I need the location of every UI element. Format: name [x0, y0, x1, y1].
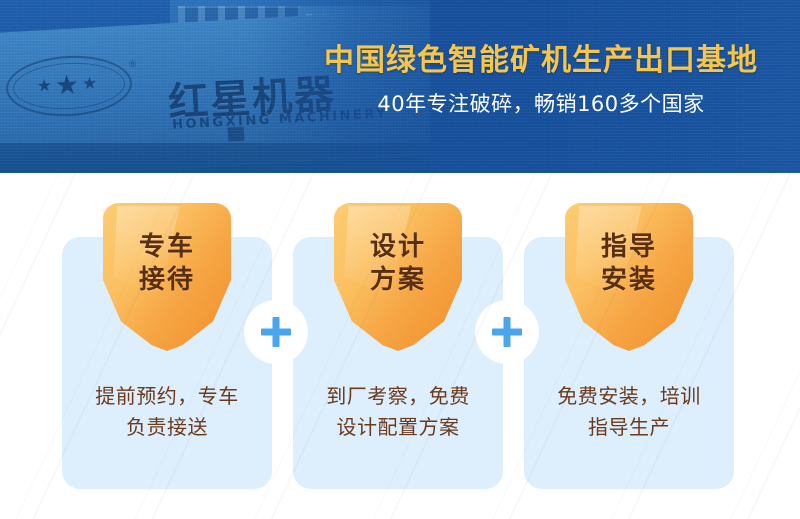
service-card-2-desc-line1: 到厂考察，免费: [293, 381, 503, 412]
service-card-2-description: 到厂考察，免费 设计配置方案: [293, 381, 503, 443]
header-banner: ★★★ ® 红星机器 HONGXING MACHINERY 中国绿色智能矿机生产…: [0, 0, 800, 173]
service-badge-2: 设计 方案: [334, 203, 462, 351]
service-badge-3: 指导 安装: [565, 203, 693, 351]
service-badge-1-line2: 接待: [103, 264, 231, 297]
brand-square-mark-icon: [228, 127, 245, 142]
service-card-1-desc-line2: 负责接送: [62, 412, 272, 443]
plus-connector-2: [475, 300, 539, 364]
banner-text-block: 中国绿色智能矿机生产出口基地 40年专注破碎，畅销160多个国家: [306, 44, 776, 116]
promo-page: ★★★ ® 红星机器 HONGXING MACHINERY 中国绿色智能矿机生产…: [0, 0, 800, 519]
banner-subtitle: 40年专注破碎，畅销160多个国家: [306, 93, 776, 116]
service-badge-3-line2: 安装: [565, 264, 693, 297]
service-badge-1: 专车 接待: [103, 203, 231, 351]
plus-connector-1: [244, 300, 308, 364]
service-badge-2-line2: 方案: [334, 264, 462, 297]
service-steps: 提前预约，专车 负责接送 到厂考察，免费 设计配置方案 免费安装，培训 指导生产: [0, 173, 800, 519]
service-card-3-desc-line2: 指导生产: [524, 412, 734, 443]
service-badge-1-line1: 专车: [103, 231, 231, 264]
service-badge-3-line1: 指导: [565, 231, 693, 264]
service-badge-2-line1: 设计: [334, 231, 462, 264]
plus-icon: [259, 315, 293, 349]
logo-stars-icon: ★★★: [17, 65, 117, 104]
plus-icon: [490, 315, 524, 349]
service-badge-3-label: 指导 安装: [565, 231, 693, 296]
service-card-3-description: 免费安装，培训 指导生产: [524, 381, 734, 443]
service-card-3-desc-line1: 免费安装，培训: [524, 381, 734, 412]
service-card-2-desc-line2: 设计配置方案: [293, 412, 503, 443]
service-badge-2-label: 设计 方案: [334, 231, 462, 296]
service-badge-1-label: 专车 接待: [103, 231, 231, 296]
service-card-1-desc-line1: 提前预约，专车: [62, 381, 272, 412]
registered-trademark-icon: ®: [128, 60, 137, 70]
service-card-1-description: 提前预约，专车 负责接送: [62, 381, 272, 443]
banner-title: 中国绿色智能矿机生产出口基地: [306, 44, 776, 77]
